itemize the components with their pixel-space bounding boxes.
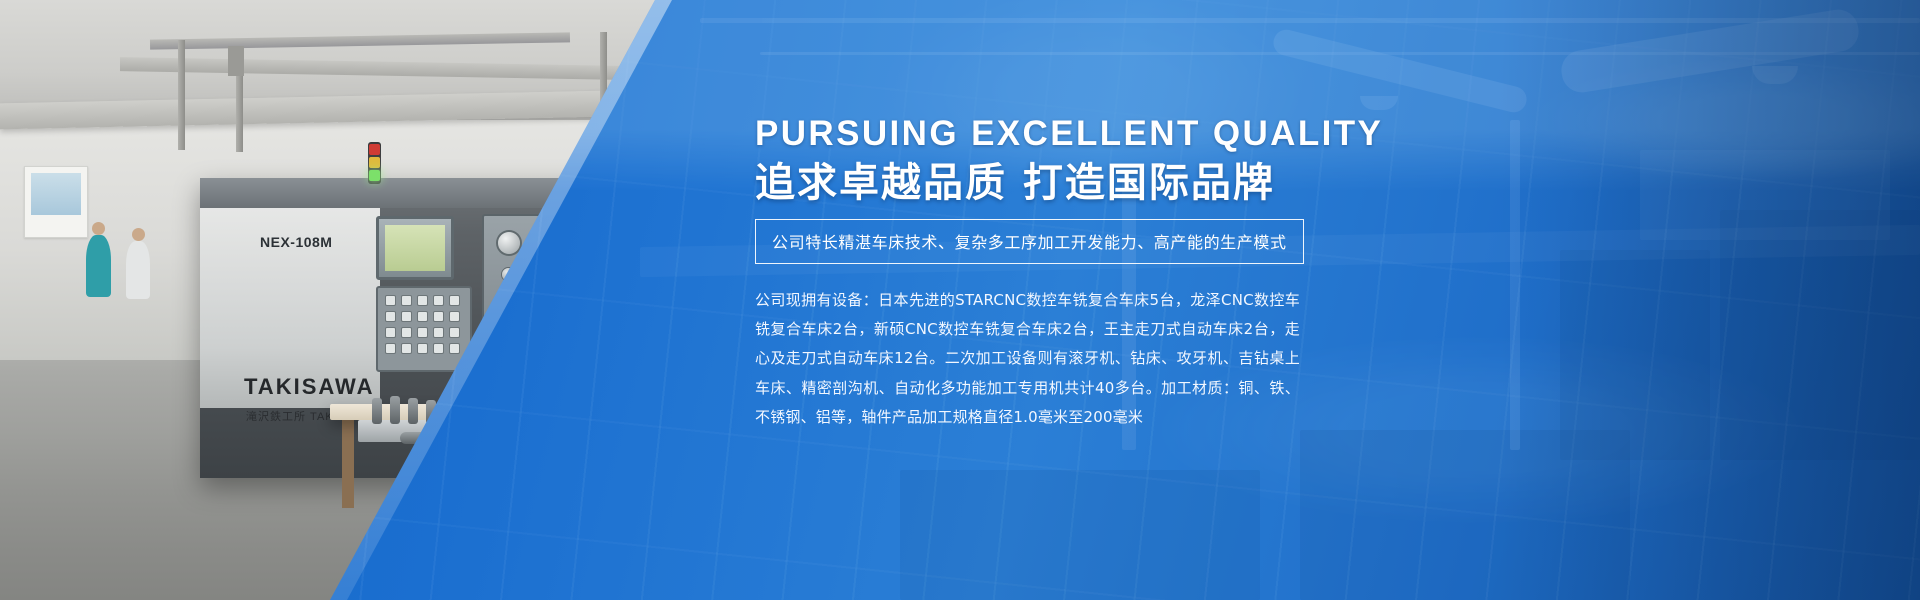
worker-1-head <box>92 222 105 235</box>
headline-english: PURSUING EXCELLENT QUALITY <box>755 116 1455 153</box>
worker-2-head <box>132 228 145 241</box>
machine-hmi-screen <box>376 216 454 280</box>
worker-2-body <box>126 241 150 299</box>
worker-1-body <box>86 235 111 297</box>
silhouette-duct-2 <box>1271 27 1530 115</box>
headline-chinese: 追求卓越品质 打造国际品牌 <box>755 160 1455 206</box>
machine-keypad <box>376 286 472 372</box>
silhouette-machine-4 <box>900 470 1260 600</box>
machined-part-1 <box>372 398 382 424</box>
control-dial-1 <box>498 232 520 254</box>
machined-part-3 <box>408 398 418 424</box>
hero-banner: NEX-108M <box>0 0 1920 600</box>
machine-nameplate: NEX-108M <box>260 234 332 250</box>
machine-brand-label: TAKISAWA <box>244 374 374 400</box>
right-vignette <box>1500 0 1920 600</box>
vertical-pipe-1 <box>178 40 185 150</box>
subtitle-box: 公司特长精湛车床技术、复杂多工序加工开发能力、高产能的生产模式 <box>755 219 1304 264</box>
hmi-display <box>385 225 445 271</box>
banner-content: PURSUING EXCELLENT QUALITY 追求卓越品质 打造国际品牌… <box>755 116 1455 432</box>
signal-light-red <box>369 144 380 155</box>
body-paragraph: 公司现拥有设备：日本先进的STARCNC数控车铣复合车床5台，龙泽CNC数控车铣… <box>755 286 1300 432</box>
signal-tower <box>368 142 381 184</box>
signal-light-amber <box>369 157 380 168</box>
wall-poster-1 <box>24 166 88 238</box>
silhouette-lamp-2 <box>1360 96 1398 110</box>
signal-light-green <box>369 170 380 181</box>
conduit-box <box>228 46 244 76</box>
bench-leg-left <box>342 418 354 508</box>
machined-part-2 <box>390 396 400 424</box>
